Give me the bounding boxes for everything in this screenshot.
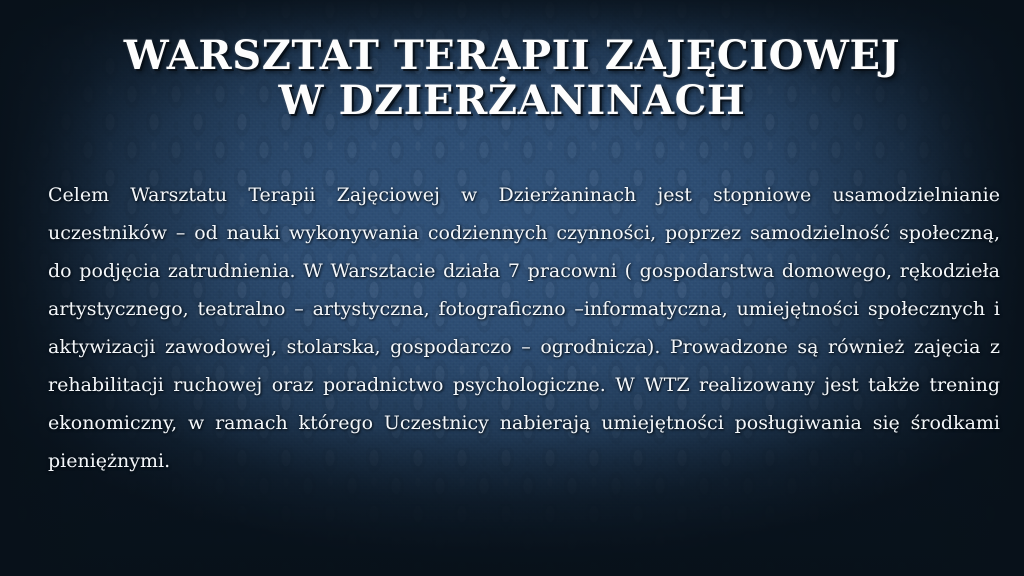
presentation-slide: WARSZTAT TERAPII ZAJĘCIOWEJ W DZIERŻANIN…	[0, 0, 1024, 576]
slide-content: WARSZTAT TERAPII ZAJĘCIOWEJ W DZIERŻANIN…	[0, 0, 1024, 576]
slide-body-paragraph: Celem Warsztatu Terapii Zajęciowej w Dzi…	[48, 176, 1000, 480]
slide-title: WARSZTAT TERAPII ZAJĘCIOWEJ W DZIERŻANIN…	[0, 33, 1024, 123]
